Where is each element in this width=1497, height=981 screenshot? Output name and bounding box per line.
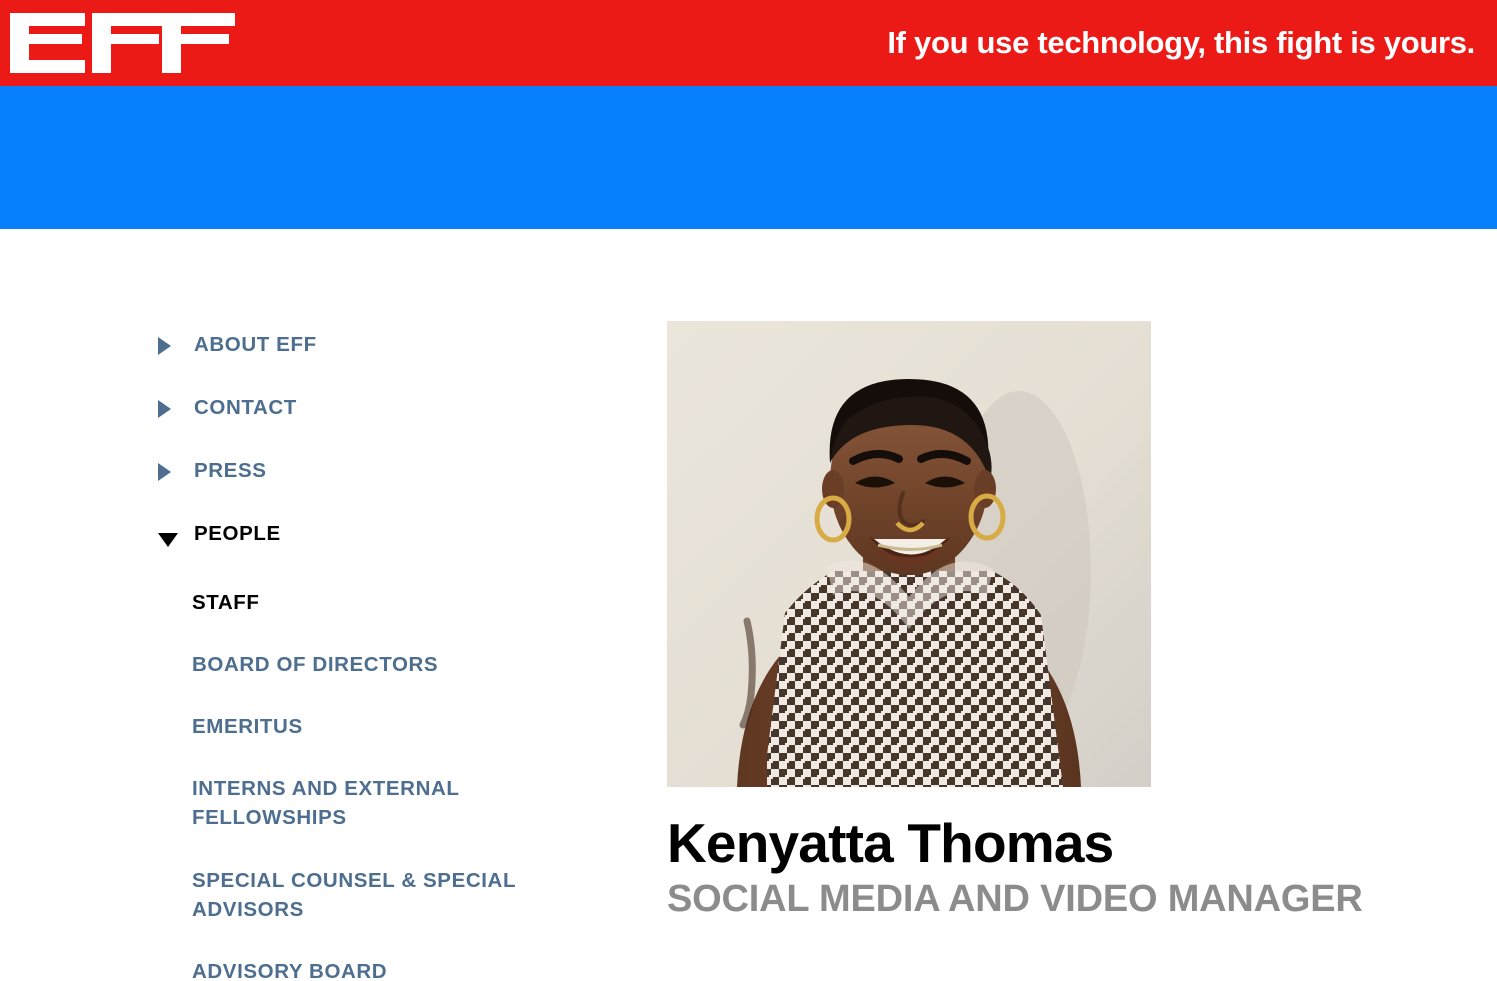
sidebar-subnav-people: STAFF BOARD OF DIRECTORS EMERITUS INTERN… bbox=[192, 588, 588, 981]
banner-tagline: If you use technology, this fight is you… bbox=[887, 25, 1475, 61]
sidebar-item-board-of-directors[interactable]: BOARD OF DIRECTORS bbox=[192, 650, 588, 679]
staff-job-title: SOCIAL MEDIA AND VIDEO MANAGER bbox=[667, 879, 1477, 921]
sidebar-subitem-label: EMERITUS bbox=[192, 712, 588, 741]
sidebar-subitem-label: INTERNS AND EXTERNAL FELLOWSHIPS bbox=[192, 774, 588, 832]
sidebar-item-contact[interactable]: CONTACT bbox=[158, 396, 588, 423]
primary-nav-band bbox=[0, 86, 1497, 229]
sidebar-item-emeritus[interactable]: EMERITUS bbox=[192, 712, 588, 741]
sidebar-subitem-label: STAFF bbox=[192, 588, 588, 617]
sidebar-item-advisory-board[interactable]: ADVISORY BOARD bbox=[192, 957, 588, 981]
sidebar-item-press[interactable]: PRESS bbox=[158, 459, 588, 486]
sidebar-navigation: ABOUT EFF CONTACT PRESS bbox=[158, 333, 588, 981]
sidebar-item-staff[interactable]: STAFF bbox=[192, 588, 588, 617]
triangle-right-icon bbox=[158, 337, 176, 360]
site-header: If you use technology, this fight is you… bbox=[0, 0, 1497, 86]
sidebar-subitem-label: SPECIAL COUNSEL & SPECIAL ADVISORS bbox=[192, 866, 588, 924]
staff-portrait-photo bbox=[667, 321, 1151, 787]
sidebar-item-interns-and-external-fellowships[interactable]: INTERNS AND EXTERNAL FELLOWSHIPS bbox=[192, 774, 588, 832]
staff-name: Kenyatta Thomas bbox=[667, 815, 1477, 873]
sidebar-item-label: CONTACT bbox=[194, 396, 297, 420]
triangle-right-icon bbox=[158, 400, 176, 423]
eff-logo[interactable] bbox=[10, 13, 243, 73]
page-body: ABOUT EFF CONTACT PRESS bbox=[0, 229, 1497, 981]
sidebar-item-label: PEOPLE bbox=[194, 522, 281, 546]
sidebar-subitem-label: BOARD OF DIRECTORS bbox=[192, 650, 588, 679]
triangle-right-icon bbox=[158, 463, 176, 486]
sidebar-item-about-eff[interactable]: ABOUT EFF bbox=[158, 333, 588, 360]
triangle-down-icon bbox=[158, 526, 176, 552]
sidebar-item-special-counsel-and-special-advisors[interactable]: SPECIAL COUNSEL & SPECIAL ADVISORS bbox=[192, 866, 588, 924]
sidebar-item-label: PRESS bbox=[194, 459, 267, 483]
sidebar-subitem-label: ADVISORY BOARD bbox=[192, 957, 588, 981]
sidebar-item-label: ABOUT EFF bbox=[194, 333, 317, 357]
staff-profile: Kenyatta Thomas SOCIAL MEDIA AND VIDEO M… bbox=[667, 321, 1477, 921]
sidebar-item-people[interactable]: PEOPLE bbox=[158, 522, 588, 552]
eff-wordmark-icon bbox=[10, 13, 243, 73]
